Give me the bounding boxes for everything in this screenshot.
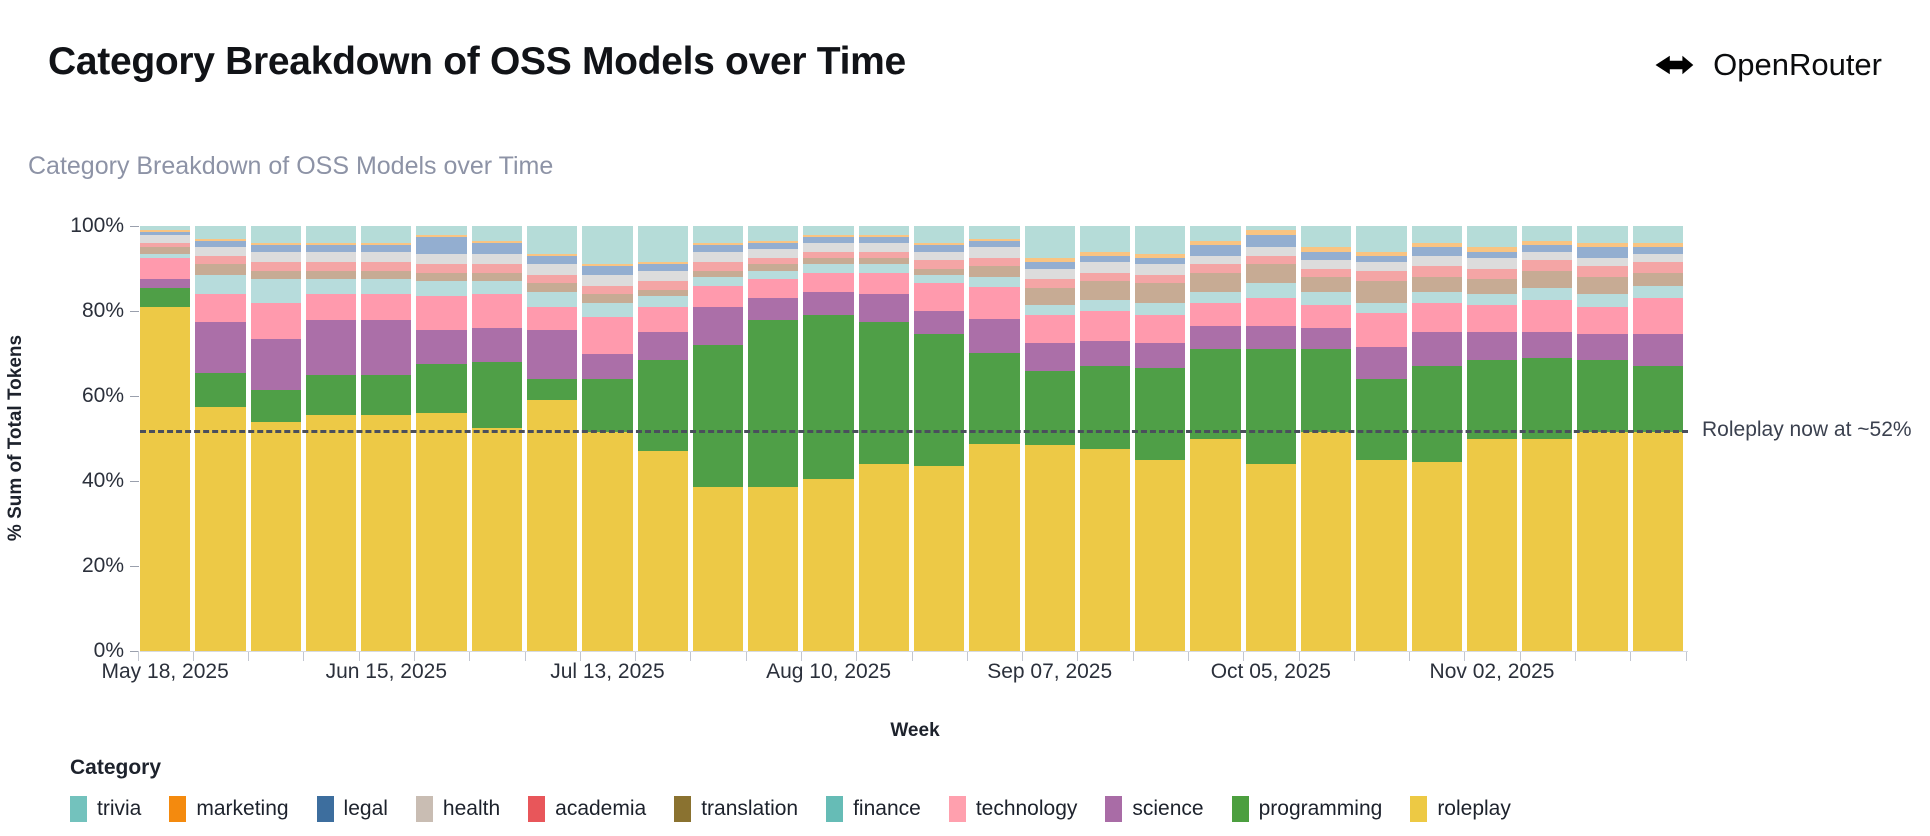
bar-segment-roleplay[interactable] (306, 415, 356, 651)
legend-item-translation[interactable]: translation (674, 796, 798, 822)
bar-segment-science[interactable] (527, 330, 577, 379)
bar-segment-trivia[interactable] (416, 226, 466, 235)
bar-segment-roleplay[interactable] (1522, 439, 1572, 652)
bar-segment-legal[interactable] (1246, 235, 1296, 248)
bar-segment-trivia[interactable] (1577, 226, 1627, 243)
bar-segment-technology[interactable] (1080, 311, 1130, 341)
bar-segment-technology[interactable] (1025, 315, 1075, 343)
bar-segment-programming[interactable] (582, 379, 632, 432)
bar-segment-trivia[interactable] (527, 226, 577, 254)
bar-segment-science[interactable] (1080, 341, 1130, 367)
bar-segment-science[interactable] (1522, 332, 1572, 358)
bar-segment-programming[interactable] (1356, 379, 1406, 460)
bar-segment-health[interactable] (472, 254, 522, 265)
bar-segment-health[interactable] (1577, 258, 1627, 267)
bar-segment-translation[interactable] (1301, 277, 1351, 292)
bar-segment-health[interactable] (361, 252, 411, 263)
bar-segment-trivia[interactable] (748, 226, 798, 241)
bar-column[interactable] (306, 226, 356, 651)
bar-column[interactable] (1246, 226, 1296, 651)
legend-item-academia[interactable]: academia (528, 796, 646, 822)
bar-segment-translation[interactable] (1522, 271, 1572, 288)
bar-segment-translation[interactable] (1025, 288, 1075, 305)
x-axis-tick-label: Oct 05, 2025 (1211, 660, 1331, 684)
bar-segment-programming[interactable] (1412, 366, 1462, 462)
legend-item-marketing[interactable]: marketing (169, 796, 288, 822)
bar-segment-programming[interactable] (693, 345, 743, 487)
bar-segment-science[interactable] (251, 339, 301, 390)
bar-segment-science[interactable] (195, 322, 245, 373)
bar-segment-finance[interactable] (582, 303, 632, 318)
legend-swatch-legal (317, 796, 334, 822)
bar-segment-roleplay[interactable] (638, 451, 688, 651)
bar-segment-academia[interactable] (1025, 279, 1075, 288)
bar-segment-finance[interactable] (472, 281, 522, 294)
bar-segment-academia[interactable] (472, 264, 522, 273)
bar-segment-trivia[interactable] (306, 226, 356, 243)
bar-segment-technology[interactable] (638, 307, 688, 333)
bar-segment-translation[interactable] (1577, 277, 1627, 294)
bar-segment-academia[interactable] (251, 262, 301, 271)
x-axis-tick-mark (525, 651, 526, 661)
bar-segment-health[interactable] (195, 247, 245, 256)
bar-segment-academia[interactable] (195, 256, 245, 265)
bar-segment-academia[interactable] (1633, 262, 1683, 273)
bar-segment-academia[interactable] (306, 262, 356, 271)
bar-segment-academia[interactable] (1246, 256, 1296, 265)
bar-segment-programming[interactable] (527, 379, 577, 400)
bar-segment-finance[interactable] (1577, 294, 1627, 307)
bar-segment-programming[interactable] (472, 362, 522, 428)
bar-segment-programming[interactable] (1577, 360, 1627, 432)
bar-segment-translation[interactable] (1633, 273, 1683, 286)
bar-segment-programming[interactable] (416, 364, 466, 413)
bar-segment-trivia[interactable] (638, 226, 688, 262)
bar-segment-trivia[interactable] (582, 226, 632, 264)
bar-segment-science[interactable] (1135, 343, 1185, 369)
bar-segment-technology[interactable] (748, 279, 798, 298)
bar-column[interactable] (748, 226, 798, 651)
bar-segment-academia[interactable] (1577, 266, 1627, 277)
x-axis-tick-label: Aug 10, 2025 (766, 660, 891, 684)
bar-segment-science[interactable] (1246, 326, 1296, 349)
bar-segment-programming[interactable] (859, 322, 909, 464)
bar-segment-trivia[interactable] (1356, 226, 1406, 252)
bar-segment-legal[interactable] (527, 256, 577, 265)
bar-column[interactable] (803, 226, 853, 651)
bar-segment-legal[interactable] (1301, 252, 1351, 261)
bar-segment-programming[interactable] (1246, 349, 1296, 464)
bar-segment-technology[interactable] (1633, 298, 1683, 334)
bar-segment-trivia[interactable] (803, 226, 853, 235)
bar-segment-translation[interactable] (361, 271, 411, 280)
bar-segment-programming[interactable] (1190, 349, 1240, 438)
bar-segment-academia[interactable] (1356, 271, 1406, 282)
bar-segment-roleplay[interactable] (361, 415, 411, 651)
bar-segment-academia[interactable] (361, 262, 411, 271)
bar-segment-programming[interactable] (1522, 358, 1572, 439)
bar-segment-health[interactable] (582, 275, 632, 286)
bar-segment-technology[interactable] (472, 294, 522, 328)
bar-column[interactable] (638, 226, 688, 651)
bar-segment-academia[interactable] (1301, 269, 1351, 278)
bar-segment-finance[interactable] (1356, 303, 1406, 314)
bar-column[interactable] (251, 226, 301, 651)
bar-segment-academia[interactable] (969, 258, 1019, 266)
legend-item-technology[interactable]: technology (949, 796, 1078, 822)
bar-segment-technology[interactable] (195, 294, 245, 322)
bar-segment-finance[interactable] (527, 292, 577, 307)
bar-segment-roleplay[interactable] (859, 464, 909, 651)
bar-segment-finance[interactable] (859, 264, 909, 273)
bar-segment-programming[interactable] (914, 334, 964, 466)
bar-segment-science[interactable] (638, 332, 688, 360)
bar-segment-academia[interactable] (638, 281, 688, 290)
bar-segment-finance[interactable] (748, 271, 798, 280)
bar-segment-technology[interactable] (1467, 305, 1517, 333)
bar-segment-trivia[interactable] (1135, 226, 1185, 254)
bar-segment-programming[interactable] (306, 375, 356, 415)
bar-segment-roleplay[interactable] (748, 487, 798, 651)
bar-segment-science[interactable] (1577, 334, 1627, 360)
bar-segment-science[interactable] (582, 354, 632, 380)
bar-segment-trivia[interactable] (1080, 226, 1130, 252)
bar-column[interactable] (693, 226, 743, 651)
bar-segment-roleplay[interactable] (582, 432, 632, 651)
bar-segment-legal[interactable] (1577, 247, 1627, 258)
bar-segment-finance[interactable] (1190, 292, 1240, 303)
bar-segment-roleplay[interactable] (693, 487, 743, 651)
bar-column[interactable] (1412, 226, 1462, 651)
bar-segment-finance[interactable] (1080, 300, 1130, 311)
bar-segment-science[interactable] (914, 311, 964, 334)
bar-segment-trivia[interactable] (195, 226, 245, 239)
bar-segment-roleplay[interactable] (1135, 460, 1185, 651)
bar-segment-health[interactable] (1412, 256, 1462, 267)
bar-segment-roleplay[interactable] (140, 307, 190, 651)
bar-segment-health[interactable] (140, 235, 190, 244)
bar-segment-technology[interactable] (527, 307, 577, 330)
bar-segment-translation[interactable] (472, 273, 522, 282)
bar-segment-health[interactable] (1135, 264, 1185, 275)
bar-segment-roleplay[interactable] (914, 466, 964, 651)
bar-segment-science[interactable] (1190, 326, 1240, 349)
y-axis-tick-label: 40% (82, 469, 124, 493)
bar-segment-trivia[interactable] (1633, 226, 1683, 243)
bar-segment-science[interactable] (1412, 332, 1462, 366)
bar-column[interactable] (416, 226, 466, 651)
legend-swatch-finance (826, 796, 843, 822)
bar-column[interactable] (859, 226, 909, 651)
bar-segment-roleplay[interactable] (1412, 462, 1462, 651)
legend-item-programming[interactable]: programming (1232, 796, 1383, 822)
bar-segment-legal[interactable] (416, 237, 466, 254)
bar-segment-finance[interactable] (1467, 294, 1517, 305)
bar-segment-health[interactable] (1025, 269, 1075, 280)
bar-segment-translation[interactable] (582, 294, 632, 303)
bar-segment-science[interactable] (140, 279, 190, 288)
bar-segment-roleplay[interactable] (1080, 449, 1130, 651)
bar-segment-technology[interactable] (1356, 313, 1406, 347)
bar-segment-finance[interactable] (195, 275, 245, 294)
bar-segment-finance[interactable] (1135, 303, 1185, 316)
y-axis-tick-mark (130, 226, 139, 227)
bar-segment-finance[interactable] (251, 279, 301, 302)
bar-segment-translation[interactable] (251, 271, 301, 280)
bar-segment-health[interactable] (416, 254, 466, 265)
bar-segment-programming[interactable] (361, 375, 411, 415)
bar-segment-translation[interactable] (195, 264, 245, 275)
bar-segment-trivia[interactable] (693, 226, 743, 243)
legend-item-roleplay[interactable]: roleplay (1410, 796, 1511, 822)
bar-segment-trivia[interactable] (1467, 226, 1517, 247)
bar-column[interactable] (582, 226, 632, 651)
bar-segment-programming[interactable] (1025, 371, 1075, 445)
bar-segment-health[interactable] (1190, 256, 1240, 265)
bar-segment-science[interactable] (693, 307, 743, 345)
bar-segment-roleplay[interactable] (969, 444, 1019, 651)
bar-segment-trivia[interactable] (1412, 226, 1462, 243)
bar-segment-health[interactable] (1633, 254, 1683, 263)
bar-segment-finance[interactable] (1025, 305, 1075, 316)
bar-segment-health[interactable] (1246, 247, 1296, 256)
legend-item-finance[interactable]: finance (826, 796, 921, 822)
bar-segment-science[interactable] (1356, 347, 1406, 379)
bar-segment-legal[interactable] (1190, 245, 1240, 256)
bar-segment-health[interactable] (803, 243, 853, 252)
bar-segment-finance[interactable] (416, 281, 466, 296)
bar-segment-translation[interactable] (1356, 281, 1406, 302)
bar-segment-academia[interactable] (416, 264, 466, 273)
bar-segment-programming[interactable] (803, 315, 853, 479)
bar-segment-translation[interactable] (416, 273, 466, 282)
bar-segment-technology[interactable] (251, 303, 301, 339)
bar-segment-finance[interactable] (969, 277, 1019, 288)
bar-segment-legal[interactable] (1412, 247, 1462, 256)
legend-items: triviamarketinglegalhealthacademiatransl… (70, 796, 1870, 822)
legend-label: science (1132, 797, 1203, 821)
bar-column[interactable] (914, 226, 964, 651)
bar-segment-finance[interactable] (306, 279, 356, 294)
bar-segment-finance[interactable] (1301, 292, 1351, 305)
bar-segment-translation[interactable] (1135, 283, 1185, 302)
x-axis-tick-mark (248, 651, 249, 661)
bar-segment-roleplay[interactable] (195, 407, 245, 651)
bar-segment-finance[interactable] (1522, 288, 1572, 301)
bar-segment-health[interactable] (1522, 252, 1572, 261)
bar-segment-finance[interactable] (1412, 292, 1462, 303)
bar-segment-roleplay[interactable] (803, 479, 853, 651)
bar-segment-roleplay[interactable] (416, 413, 466, 651)
bar-column[interactable] (1633, 226, 1683, 651)
bar-segment-translation[interactable] (1190, 273, 1240, 292)
bar-segment-science[interactable] (472, 328, 522, 362)
bar-segment-trivia[interactable] (1522, 226, 1572, 241)
bar-segment-programming[interactable] (140, 288, 190, 307)
bar-segment-science[interactable] (416, 330, 466, 364)
bar-segment-health[interactable] (1301, 260, 1351, 269)
bar-segment-technology[interactable] (416, 296, 466, 330)
bar-column[interactable] (472, 226, 522, 651)
bar-segment-science[interactable] (969, 319, 1019, 353)
bar-segment-science[interactable] (1467, 332, 1517, 360)
legend-item-science[interactable]: science (1105, 796, 1203, 822)
bar-segment-technology[interactable] (1301, 305, 1351, 328)
bar-segment-legal[interactable] (582, 266, 632, 275)
bar-segment-health[interactable] (251, 252, 301, 263)
bar-segment-roleplay[interactable] (1633, 432, 1683, 651)
bar-segment-translation[interactable] (1246, 264, 1296, 283)
bar-column[interactable] (1467, 226, 1517, 651)
bar-segment-translation[interactable] (527, 283, 577, 292)
bar-segment-finance[interactable] (693, 277, 743, 286)
bar-column[interactable] (969, 226, 1019, 651)
bar-segment-technology[interactable] (306, 294, 356, 320)
bar-segment-roleplay[interactable] (472, 428, 522, 651)
bar-column[interactable] (1301, 226, 1351, 651)
bar-segment-finance[interactable] (1246, 283, 1296, 298)
bar-column[interactable] (1025, 226, 1075, 651)
bar-segment-health[interactable] (1080, 262, 1130, 273)
bar-segment-roleplay[interactable] (1356, 460, 1406, 651)
bar-segment-trivia[interactable] (472, 226, 522, 241)
bar-segment-roleplay[interactable] (251, 422, 301, 652)
bar-segment-programming[interactable] (748, 320, 798, 488)
bar-segment-academia[interactable] (1467, 269, 1517, 280)
bar-segment-health[interactable] (693, 252, 743, 263)
bar-segment-trivia[interactable] (1301, 226, 1351, 247)
legend-item-trivia[interactable]: trivia (70, 796, 141, 822)
bar-segment-academia[interactable] (914, 260, 964, 269)
bar-column[interactable] (361, 226, 411, 651)
bar-segment-academia[interactable] (527, 275, 577, 284)
bar-segment-technology[interactable] (1190, 303, 1240, 326)
bar-column[interactable] (1135, 226, 1185, 651)
bar-segment-trivia[interactable] (1025, 226, 1075, 258)
bar-segment-finance[interactable] (803, 264, 853, 273)
bar-segment-trivia[interactable] (1190, 226, 1240, 241)
bar-segment-translation[interactable] (969, 266, 1019, 277)
bar-segment-technology[interactable] (1412, 303, 1462, 333)
bar-segment-translation[interactable] (306, 271, 356, 280)
bar-segment-health[interactable] (1467, 258, 1517, 269)
bar-segment-roleplay[interactable] (1025, 445, 1075, 651)
bar-column[interactable] (195, 226, 245, 651)
bar-segment-trivia[interactable] (969, 226, 1019, 239)
bar-segment-technology[interactable] (1135, 315, 1185, 343)
bar-segment-finance[interactable] (914, 275, 964, 284)
bar-segment-programming[interactable] (638, 360, 688, 451)
bar-segment-science[interactable] (748, 298, 798, 319)
bar-column[interactable] (1356, 226, 1406, 651)
bar-segment-translation[interactable] (1467, 279, 1517, 294)
bar-segment-academia[interactable] (1412, 266, 1462, 277)
bar-segment-science[interactable] (1025, 343, 1075, 371)
bar-segment-trivia[interactable] (251, 226, 301, 243)
bar-column[interactable] (1577, 226, 1627, 651)
bar-column[interactable] (1190, 226, 1240, 651)
bar-segment-technology[interactable] (1246, 298, 1296, 326)
bar-segment-legal[interactable] (472, 243, 522, 254)
x-axis-tick-mark (856, 651, 857, 661)
bar-segment-programming[interactable] (195, 373, 245, 407)
bar-segment-technology[interactable] (969, 287, 1019, 319)
bar-segment-technology[interactable] (859, 273, 909, 294)
bar-segment-roleplay[interactable] (1467, 439, 1517, 652)
bar-segment-health[interactable] (748, 249, 798, 258)
bar-segment-academia[interactable] (1080, 273, 1130, 282)
bar-segment-technology[interactable] (1522, 300, 1572, 332)
bar-segment-technology[interactable] (140, 258, 190, 279)
bar-segment-health[interactable] (969, 247, 1019, 258)
bar-segment-health[interactable] (1356, 262, 1406, 271)
bar-segment-academia[interactable] (1135, 275, 1185, 284)
bar-segment-academia[interactable] (1190, 264, 1240, 273)
bar-segment-science[interactable] (803, 292, 853, 315)
bar-segment-technology[interactable] (914, 283, 964, 311)
bar-column[interactable] (1522, 226, 1572, 651)
legend-item-health[interactable]: health (416, 796, 500, 822)
bar-segment-science[interactable] (1301, 328, 1351, 349)
bar-segment-programming[interactable] (1633, 366, 1683, 432)
bar-column[interactable] (140, 226, 190, 651)
legend-item-legal[interactable]: legal (317, 796, 388, 822)
bar-segment-roleplay[interactable] (1301, 432, 1351, 651)
bar-segment-translation[interactable] (1412, 277, 1462, 292)
bar-column[interactable] (1080, 226, 1130, 651)
bar-segment-technology[interactable] (582, 317, 632, 353)
bar-segment-finance[interactable] (361, 279, 411, 294)
bar-segment-programming[interactable] (1135, 368, 1185, 459)
bar-segment-programming[interactable] (1080, 366, 1130, 449)
bar-segment-health[interactable] (527, 264, 577, 275)
bar-segment-technology[interactable] (1577, 307, 1627, 335)
bar-segment-roleplay[interactable] (1246, 464, 1296, 651)
bar-segment-academia[interactable] (582, 286, 632, 295)
bar-segment-programming[interactable] (1301, 349, 1351, 432)
bar-segment-technology[interactable] (361, 294, 411, 320)
bar-segment-roleplay[interactable] (527, 400, 577, 651)
bar-segment-science[interactable] (361, 320, 411, 375)
bar-segment-roleplay[interactable] (1577, 432, 1627, 651)
bar-segment-trivia[interactable] (361, 226, 411, 243)
bar-segment-trivia[interactable] (914, 226, 964, 243)
bar-segment-health[interactable] (306, 252, 356, 263)
x-axis-tick-mark (1133, 651, 1134, 661)
bar-segment-science[interactable] (306, 320, 356, 375)
bar-segment-technology[interactable] (693, 286, 743, 307)
bar-segment-health[interactable] (859, 243, 909, 252)
bar-segment-academia[interactable] (1522, 260, 1572, 271)
y-axis-tick-label: 80% (82, 299, 124, 323)
x-axis-tick-mark (1299, 651, 1300, 661)
legend-swatch-translation (674, 796, 691, 822)
bar-segment-science[interactable] (1633, 334, 1683, 366)
bar-segment-roleplay[interactable] (1190, 439, 1240, 652)
bar-segment-science[interactable] (859, 294, 909, 322)
bar-segment-programming[interactable] (251, 390, 301, 422)
bar-segment-trivia[interactable] (859, 226, 909, 235)
bar-segment-technology[interactable] (803, 273, 853, 292)
bar-segment-finance[interactable] (1633, 286, 1683, 299)
bar-column[interactable] (527, 226, 577, 651)
bar-segment-finance[interactable] (638, 296, 688, 307)
bar-segment-translation[interactable] (1080, 281, 1130, 300)
bar-segment-health[interactable] (914, 252, 964, 261)
bar-segment-programming[interactable] (1467, 360, 1517, 439)
bar-segment-health[interactable] (638, 271, 688, 282)
bar-segment-academia[interactable] (693, 262, 743, 271)
